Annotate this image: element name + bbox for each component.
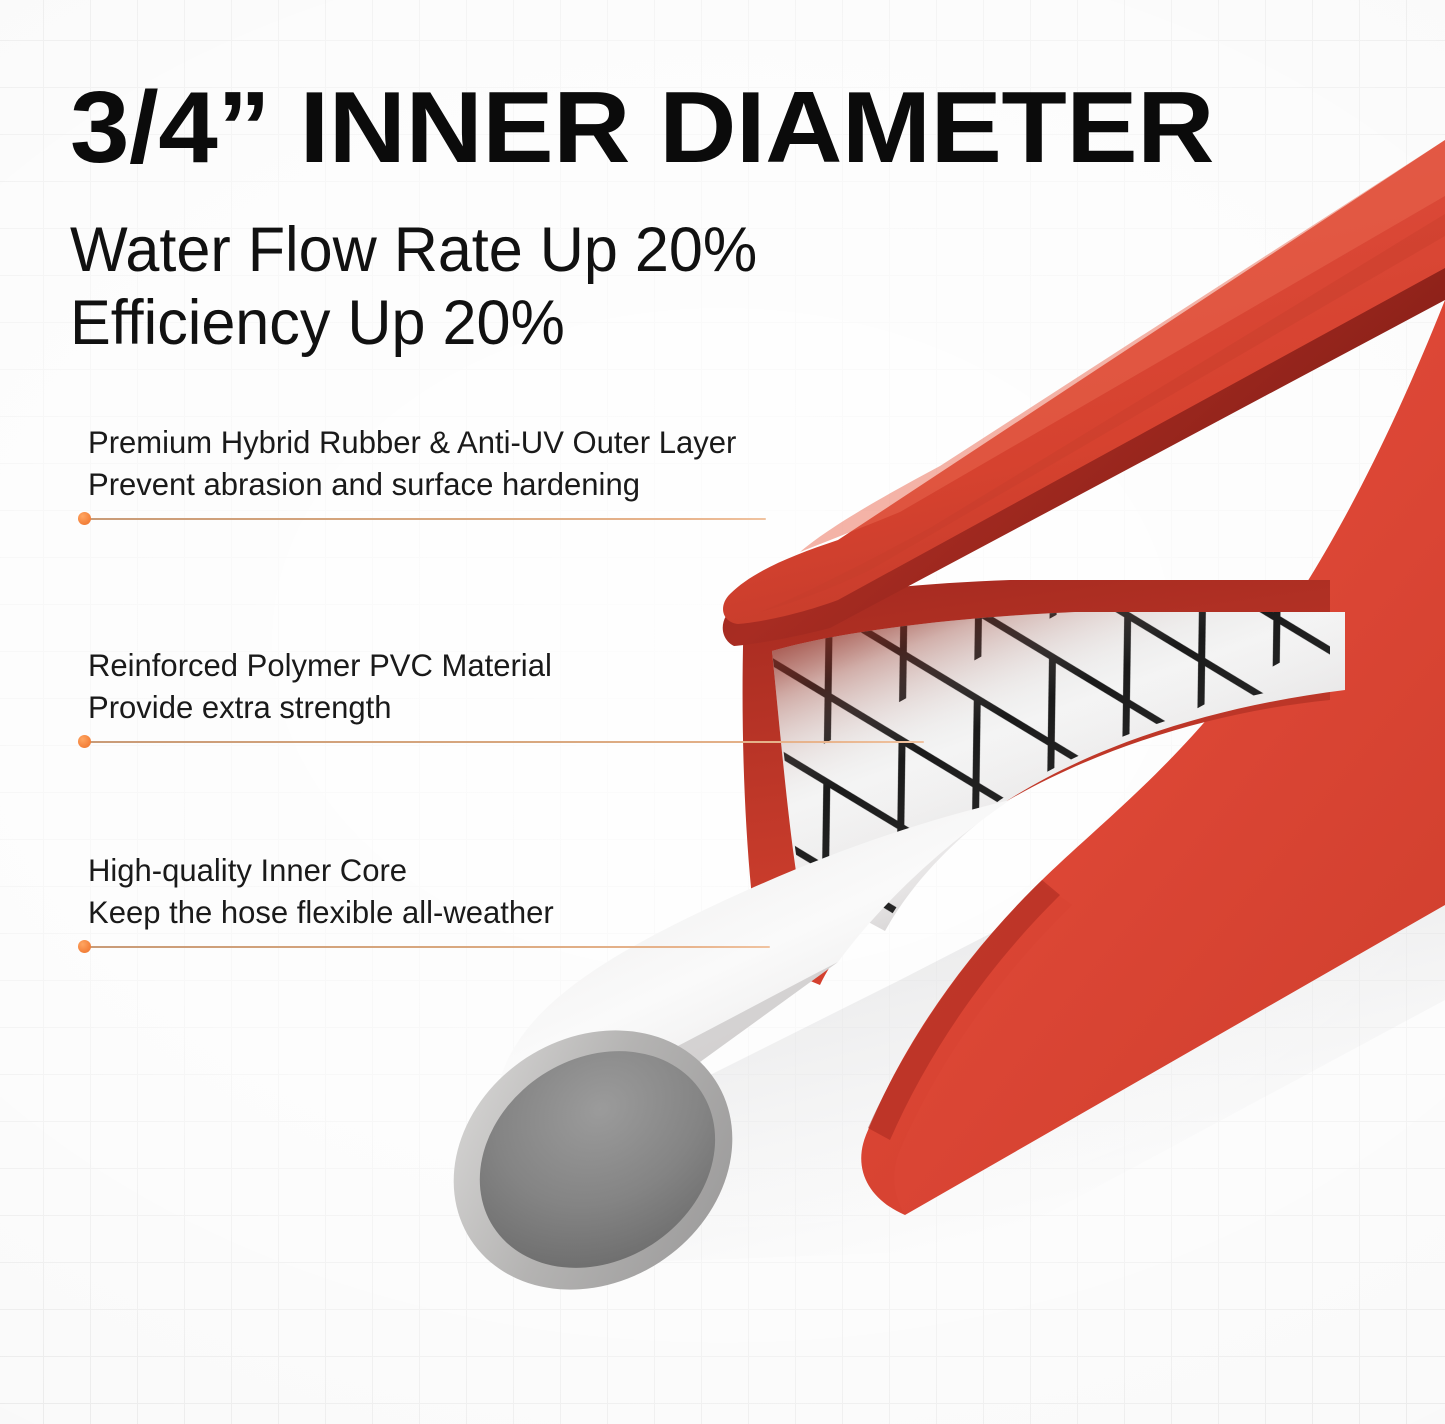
headline-block: 3/4” INNER DIAMETER Water Flow Rate Up 2… (70, 79, 1320, 360)
subtitle-line-2: Efficiency Up 20% (70, 287, 1283, 360)
callout-detail: Provide extra strength (88, 687, 552, 729)
callout-dot-icon (78, 735, 91, 748)
callout-pvc-layer-text: Reinforced Polymer PVC Material Provide … (88, 645, 552, 729)
callout-heading: Premium Hybrid Rubber & Anti-UV Outer La… (88, 422, 736, 464)
page-title: 3/4” INNER DIAMETER (70, 79, 1395, 178)
callout-dot-icon (78, 512, 91, 525)
subtitle-line-1: Water Flow Rate Up 20% (70, 214, 1283, 287)
callout-leader-line (86, 741, 924, 743)
callout-detail: Keep the hose flexible all-weather (88, 892, 554, 934)
callout-leader-line (86, 946, 770, 948)
callout-inner-core-text: High-quality Inner Core Keep the hose fl… (88, 850, 554, 934)
page-subtitle: Water Flow Rate Up 20% Efficiency Up 20% (70, 178, 1283, 360)
callout-leader-line (86, 518, 766, 520)
callout-heading: High-quality Inner Core (88, 850, 554, 892)
callout-detail: Prevent abrasion and surface hardening (88, 464, 736, 506)
callout-heading: Reinforced Polymer PVC Material (88, 645, 552, 687)
callout-dot-icon (78, 940, 91, 953)
infographic-canvas: 3/4” INNER DIAMETER Water Flow Rate Up 2… (0, 0, 1445, 1424)
callout-outer-layer-text: Premium Hybrid Rubber & Anti-UV Outer La… (88, 422, 736, 506)
